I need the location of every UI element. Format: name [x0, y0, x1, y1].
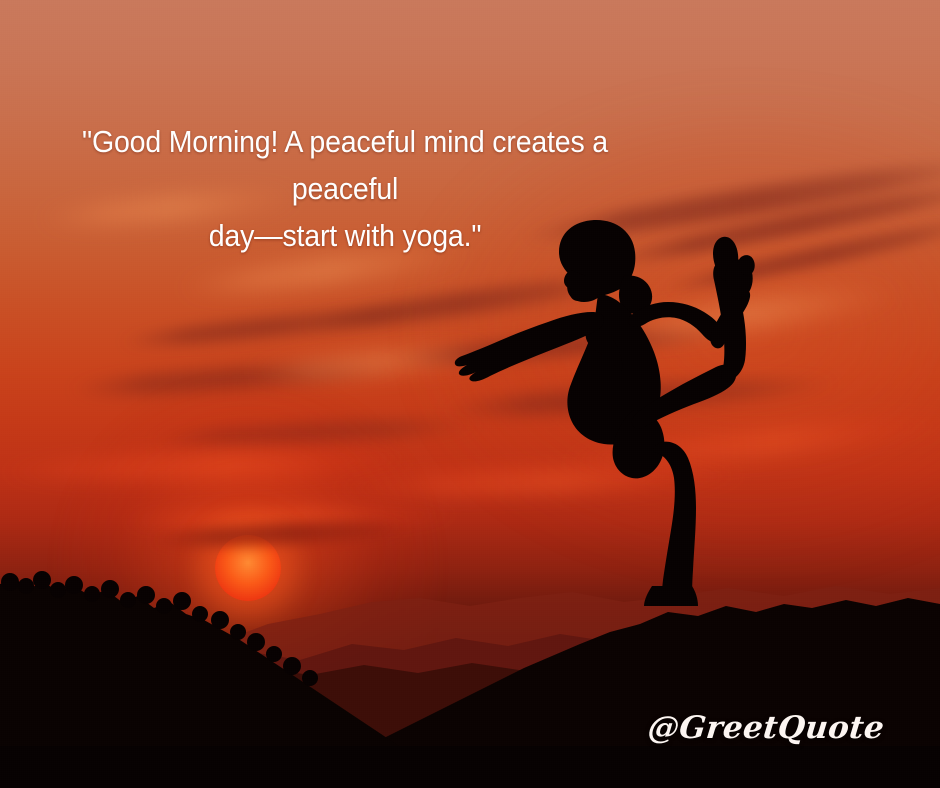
watermark-handle: @GreetQuote: [646, 710, 886, 746]
quote-line-1: "Good Morning! A peaceful mind creates a…: [50, 118, 641, 212]
quote-line-2: day—start with yoga.": [50, 212, 641, 259]
yoga-figure-silhouette: [440, 214, 780, 606]
quote-text: "Good Morning! A peaceful mind creates a…: [28, 118, 663, 259]
poster-canvas: "Good Morning! A peaceful mind creates a…: [0, 0, 940, 788]
